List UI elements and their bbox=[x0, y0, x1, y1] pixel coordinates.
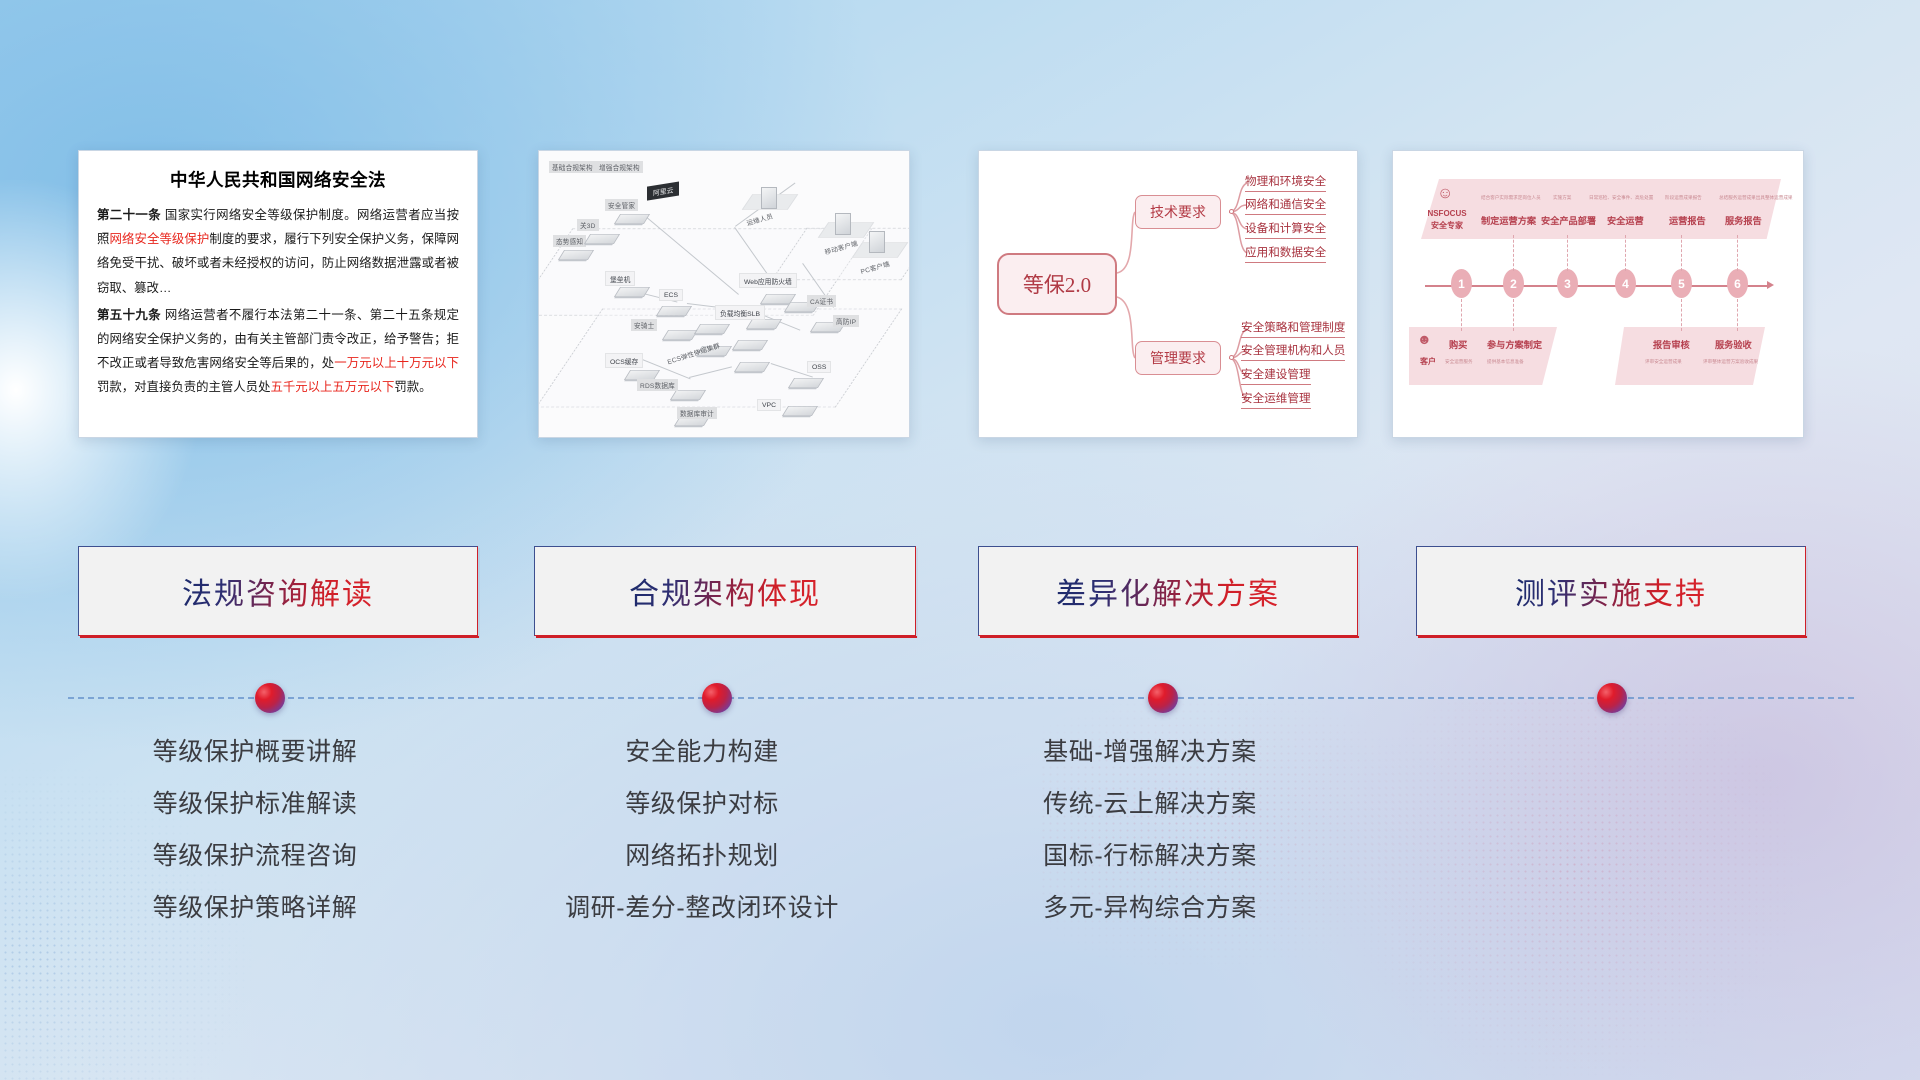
timeline-step-number: 2 bbox=[1503, 269, 1524, 298]
customer-step-label: 购买 bbox=[1449, 337, 1467, 351]
law-title: 中华人民共和国网络安全法 bbox=[97, 167, 459, 192]
arch-node-shape bbox=[662, 330, 698, 340]
detail-column-regulation-consulting: 等级保护概要讲解 等级保护标准解读 等级保护流程咨询 等级保护策略详解 bbox=[55, 740, 455, 921]
law-run-highlight: 网络安全等级保护 bbox=[110, 232, 210, 246]
mindmap-leaf: 应用和数据安全 bbox=[1245, 244, 1326, 263]
customer-person-icon: ☻ bbox=[1417, 331, 1432, 347]
arch-node-anqishi: 安骑士 bbox=[631, 319, 657, 331]
arch-node-shape bbox=[782, 406, 818, 416]
mindmap-leaf: 安全策略和管理制度 bbox=[1241, 319, 1345, 338]
detail-item: 等级保护对标 bbox=[500, 792, 904, 817]
arch-node-oss: OSS bbox=[807, 361, 831, 373]
arch-cloud-label: 阿里云 bbox=[647, 181, 679, 200]
arch-node-ca-cert: CA证书 bbox=[807, 295, 836, 307]
arch-tab-basic: 基础合规架构 bbox=[549, 161, 596, 173]
section-heading-label: 法规咨询解读 bbox=[182, 569, 374, 613]
section-heading-differentiated-solution[interactable]: 差异化解决方案 bbox=[978, 546, 1358, 636]
arch-node-rds: RDS数据库 bbox=[637, 379, 678, 391]
section-heading-compliance-architecture[interactable]: 合规架构体现 bbox=[534, 546, 916, 636]
mindmap-hub-dot bbox=[1229, 355, 1234, 360]
mindmap-leaf: 设备和计算安全 bbox=[1245, 220, 1326, 239]
arch-node-db-audit: 数据库审计 bbox=[677, 407, 717, 419]
dot-texture-bottom-right bbox=[1340, 700, 1800, 1080]
law-run: 罚款。 bbox=[394, 380, 431, 394]
service-timeline: ☺ NSFOCUS 安全专家 ☻ 客户 1 2 3 4 5 6 bbox=[1393, 151, 1803, 437]
detail-item: 多元-异构综合方案 bbox=[948, 896, 1352, 921]
law-paragraph: 第二十一条 国家实行网络安全等级保护制度。网络运营者应当按照网络安全等级保护制度… bbox=[97, 203, 459, 300]
arch-node-security-butler: 安全管家 bbox=[605, 199, 638, 211]
vendor-role-label: 安全专家 bbox=[1417, 221, 1477, 231]
detail-column-compliance-architecture: 安全能力构建 等级保护对标 网络拓扑规划 调研-差分-整改闭环设计 bbox=[500, 740, 904, 921]
detail-item: 等级保护标准解读 bbox=[55, 792, 455, 817]
section-heading-regulation-consulting[interactable]: 法规咨询解读 bbox=[78, 546, 478, 636]
law-run-highlight: 一万元以上十万元以下 bbox=[334, 356, 459, 370]
card-service-timeline: ☺ NSFOCUS 安全专家 ☻ 客户 1 2 3 4 5 6 bbox=[1392, 150, 1804, 438]
law-run-highlight: 五千元以上五万元以下 bbox=[270, 380, 394, 394]
timeline-node-2[interactable] bbox=[702, 683, 732, 713]
customer-step-label: 参与方案制定 bbox=[1487, 337, 1542, 351]
arch-node-bastion-host: 堡垒机 bbox=[605, 271, 635, 286]
detail-item: 等级保护概要讲解 bbox=[55, 740, 455, 765]
detail-item: 等级保护流程咨询 bbox=[55, 844, 455, 869]
mindmap: 等保2.0 技术要求 物理和环境安全 网络和通信安全 设备和计算安全 应用和数据… bbox=[979, 151, 1357, 437]
arch-server-shape bbox=[835, 213, 851, 235]
section-heading-row: 法规咨询解读 合规架构体现 差异化解决方案 测评实施支持 bbox=[0, 546, 1920, 636]
timeline-step-sub: 总结服务运营成果出具整体运营成果 bbox=[1719, 195, 1793, 201]
mindmap-leaf: 安全管理机构和人员 bbox=[1241, 342, 1345, 361]
section-heading-label: 合规架构体现 bbox=[629, 569, 821, 613]
timeline-tick bbox=[1737, 299, 1738, 331]
mindmap-leaf: 网络和通信安全 bbox=[1245, 196, 1326, 215]
mindmap-hub-dot bbox=[1229, 209, 1234, 214]
architecture-diagram: 基础合规架构 增强合规架构 阿里云 态势 bbox=[539, 151, 909, 437]
section-heading-evaluation-support[interactable]: 测评实施支持 bbox=[1416, 546, 1806, 636]
customer-step-label: 报告审核 bbox=[1653, 337, 1690, 351]
customer-label: 客户 bbox=[1407, 357, 1449, 367]
timeline-tick bbox=[1513, 299, 1514, 331]
section-heading-label: 差异化解决方案 bbox=[1056, 569, 1280, 613]
timeline-step-sub: 结合客户实际需求定岗位人员 bbox=[1481, 195, 1541, 201]
detail-item: 网络拓扑规划 bbox=[500, 844, 904, 869]
customer-step-sub: 安全运营服务 bbox=[1445, 359, 1473, 365]
image-card-row: 中华人民共和国网络安全法 第二十一条 国家实行网络安全等级保护制度。网络运营者应… bbox=[0, 150, 1920, 440]
timeline-step-number: 4 bbox=[1615, 269, 1636, 298]
arch-node-guan3d: 关3D bbox=[577, 219, 599, 231]
card-mindmap-dengbao: 等保2.0 技术要求 物理和环境安全 网络和通信安全 设备和计算安全 应用和数据… bbox=[978, 150, 1358, 438]
section-heading-label: 测评实施支持 bbox=[1515, 569, 1707, 613]
detail-item: 等级保护策略详解 bbox=[55, 896, 455, 921]
arch-node-shape bbox=[746, 319, 782, 329]
timeline-tick bbox=[1567, 235, 1568, 271]
timeline-step-label: 制定运营方案 bbox=[1481, 213, 1536, 227]
expert-person-icon: ☺ bbox=[1437, 185, 1453, 203]
arch-tab-enhanced: 增强合规架构 bbox=[596, 161, 643, 173]
mindmap-leaf: 安全运维管理 bbox=[1241, 390, 1311, 409]
timeline-dashed-axis bbox=[68, 697, 1854, 699]
timeline-band-customer-right bbox=[1615, 327, 1765, 385]
timeline-tick bbox=[1681, 235, 1682, 271]
timeline-node-3[interactable] bbox=[1148, 683, 1178, 713]
customer-step-label: 服务验收 bbox=[1715, 337, 1752, 351]
timeline-tick bbox=[1625, 235, 1626, 271]
timeline-arrow-icon bbox=[1767, 281, 1774, 289]
arch-node-waf: Web应用防火墙 bbox=[739, 273, 797, 288]
timeline-step-label: 安全产品部署 bbox=[1541, 213, 1596, 227]
customer-step-sub: 评审安全运营成果 bbox=[1645, 359, 1682, 365]
mindmap-branch-technical: 技术要求 bbox=[1135, 195, 1221, 229]
timeline-step-number: 6 bbox=[1727, 269, 1748, 298]
vendor-brand-label: NSFOCUS bbox=[1417, 209, 1477, 219]
timeline-axis bbox=[1425, 285, 1769, 287]
arch-node-shape bbox=[558, 250, 594, 260]
timeline-step-label: 安全运营 bbox=[1607, 213, 1644, 227]
timeline-tick bbox=[1461, 299, 1462, 331]
mindmap-branch-management: 管理要求 bbox=[1135, 341, 1221, 375]
law-article-number: 第五十九条 bbox=[97, 308, 161, 322]
arch-node-ecs: ECS bbox=[659, 289, 683, 301]
arch-node-shape bbox=[788, 378, 824, 388]
arch-node-anti-ddos-ip: 高防IP bbox=[833, 315, 859, 327]
timeline-step-sub: 实施方案 bbox=[1553, 195, 1571, 201]
customer-step-sub: 评审整体运营方案验收成果 bbox=[1703, 359, 1758, 365]
arch-node-shape bbox=[732, 340, 768, 350]
arch-node-shape bbox=[670, 390, 706, 400]
arch-node-shape bbox=[734, 362, 770, 372]
mindmap-root: 等保2.0 bbox=[997, 253, 1117, 315]
detail-item: 安全能力构建 bbox=[500, 740, 904, 765]
timeline-step-label: 运营报告 bbox=[1669, 213, 1706, 227]
arch-node-shape bbox=[614, 287, 650, 297]
detail-column-differentiated-solution: 基础-增强解决方案 传统-云上解决方案 国标-行标解决方案 多元-异构综合方案 bbox=[948, 740, 1352, 921]
timeline-node-4[interactable] bbox=[1597, 683, 1627, 713]
timeline-step-sub: 阶段运营成果报告 bbox=[1665, 195, 1702, 201]
timeline-step-number: 5 bbox=[1671, 269, 1692, 298]
arch-node-ocs-cache: OCS缓存 bbox=[605, 353, 643, 368]
law-body: 中华人民共和国网络安全法 第二十一条 国家实行网络安全等级保护制度。网络运营者应… bbox=[79, 151, 477, 410]
arch-node-vpc: VPC bbox=[757, 399, 781, 411]
detail-item: 调研-差分-整改闭环设计 bbox=[500, 896, 904, 921]
detail-item: 传统-云上解决方案 bbox=[948, 792, 1352, 817]
arch-node-shape bbox=[584, 234, 620, 244]
law-article-number: 第二十一条 bbox=[97, 208, 161, 222]
law-paragraph: 第五十九条 网络运营者不履行本法第二十一条、第二十五条规定的网络安全保护义务的，… bbox=[97, 303, 459, 400]
card-cybersecurity-law: 中华人民共和国网络安全法 第二十一条 国家实行网络安全等级保护制度。网络运营者应… bbox=[78, 150, 478, 438]
mindmap-leaf: 物理和环境安全 bbox=[1245, 173, 1326, 192]
card-compliance-architecture: 基础合规架构 增强合规架构 阿里云 态势 bbox=[538, 150, 910, 438]
timeline-tick bbox=[1737, 235, 1738, 271]
timeline-node-1[interactable] bbox=[255, 683, 285, 713]
law-run: 罚款，对直接负责的主管人员处 bbox=[97, 380, 270, 394]
arch-server-shape bbox=[761, 187, 777, 209]
arch-node-situational-awareness: 态势感知 bbox=[553, 235, 586, 247]
arch-node-shape bbox=[614, 214, 650, 224]
customer-step-sub: 提供基本信息准备 bbox=[1487, 359, 1524, 365]
timeline-tick bbox=[1681, 299, 1682, 331]
slide-root: 中华人民共和国网络安全法 第二十一条 国家实行网络安全等级保护制度。网络运营者应… bbox=[0, 0, 1920, 1080]
mindmap-leaf: 安全建设管理 bbox=[1241, 366, 1311, 385]
arch-node-shape bbox=[694, 324, 730, 334]
arch-server-shape bbox=[869, 231, 885, 253]
detail-item: 基础-增强解决方案 bbox=[948, 740, 1352, 765]
timeline-step-number: 1 bbox=[1451, 269, 1472, 298]
timeline-step-sub: 日常巡检、安全事件、高危处置 bbox=[1589, 195, 1653, 201]
timeline-step-number: 3 bbox=[1557, 269, 1578, 298]
timeline-tick bbox=[1513, 235, 1514, 271]
timeline-step-label: 服务报告 bbox=[1725, 213, 1762, 227]
arch-node-slb: 负载均衡SLB bbox=[715, 305, 765, 320]
arch-node-shape bbox=[656, 306, 692, 316]
detail-item: 国标-行标解决方案 bbox=[948, 844, 1352, 869]
arch-node-ops-staff: 运维人员 bbox=[742, 209, 777, 230]
